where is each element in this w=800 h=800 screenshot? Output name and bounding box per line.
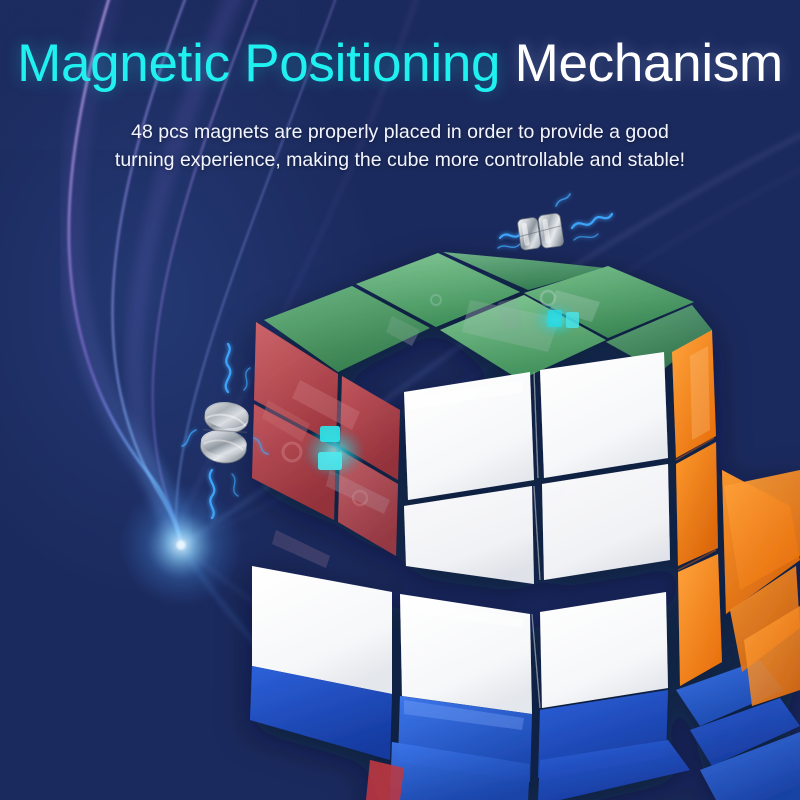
product-banner: Magnetic Positioning Mechanism 48 pcs ma… xyxy=(0,0,800,800)
subtitle-line-1: 48 pcs magnets are properly placed in or… xyxy=(0,118,800,146)
title-plain: Mechanism xyxy=(500,34,783,93)
subtitle-line-2: turning experience, making the cube more… xyxy=(0,146,800,174)
subtitle: 48 pcs magnets are properly placed in or… xyxy=(0,118,800,174)
page-title: Magnetic Positioning Mechanism xyxy=(0,36,800,92)
title-highlight: Magnetic Positioning xyxy=(17,34,500,93)
magnet-pair-top xyxy=(498,194,612,251)
magnet-pair-left xyxy=(182,344,268,518)
